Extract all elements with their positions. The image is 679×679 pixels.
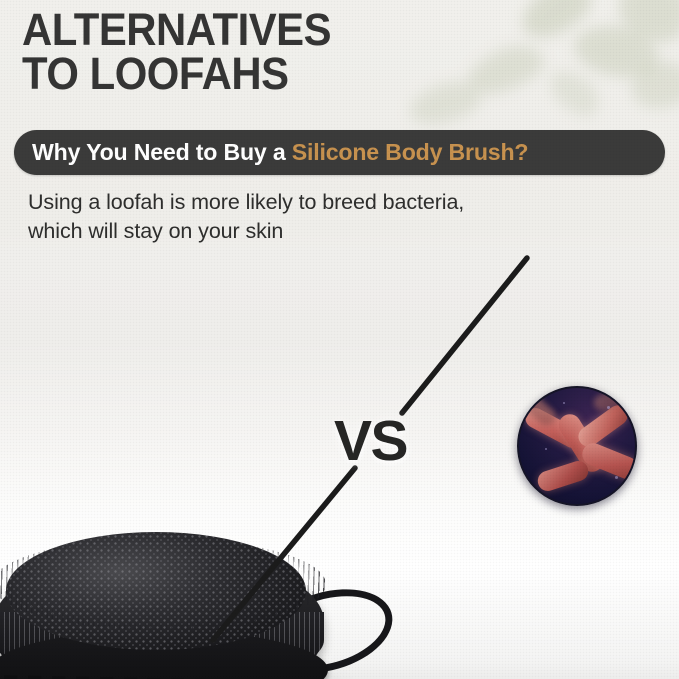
leaf-shadow-icon: [629, 59, 679, 111]
microscope-speck: [563, 402, 565, 404]
bacteria-microscope-circle: [517, 386, 637, 506]
bacteria-rod: [535, 458, 591, 493]
banner-text: Why You Need to Buy a Silicone Body Brus…: [32, 139, 528, 166]
banner-text-accent: Silicone Body Brush?: [292, 139, 529, 165]
page-title: ALTERNATIVES TO LOOFAHS: [22, 8, 599, 96]
bacteria-rod: [579, 440, 637, 482]
silicone-body-brush-product: [0, 526, 386, 679]
microscope-speck: [545, 448, 547, 450]
product-infographic-poster: ALTERNATIVES TO LOOFAHS Why You Need to …: [0, 0, 679, 679]
leaf-shadow-icon: [608, 0, 679, 54]
brush-bristle-edge-fringe: [0, 538, 326, 630]
headline-banner: Why You Need to Buy a Silicone Body Brus…: [14, 130, 665, 175]
microscope-speck: [615, 476, 618, 479]
brush-nub: [4, 675, 17, 679]
subtitle-text: Using a loofah is more likely to breed b…: [28, 188, 628, 246]
banner-text-plain: Why You Need to Buy a: [32, 139, 292, 165]
vs-label: VS: [334, 408, 407, 474]
microscope-speck: [607, 406, 610, 409]
